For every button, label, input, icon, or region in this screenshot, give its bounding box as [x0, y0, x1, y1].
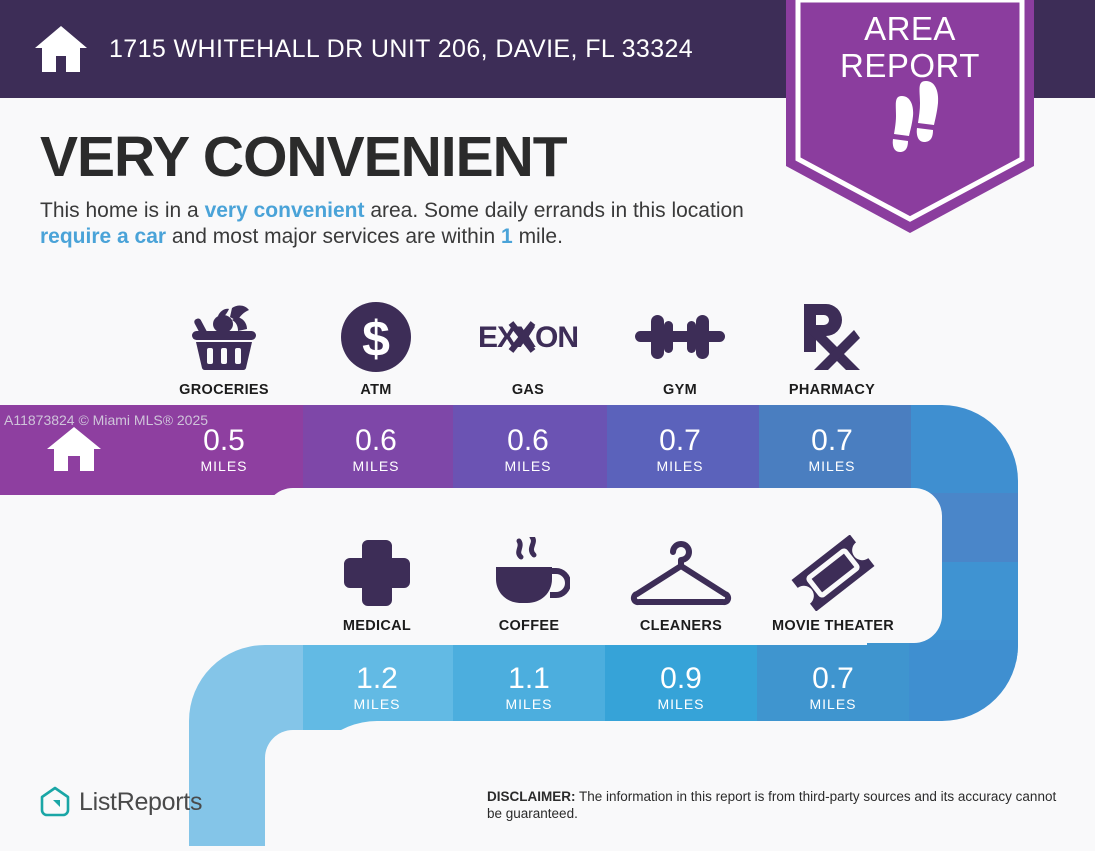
category-pharmacy: PHARMACY: [756, 288, 908, 398]
category-label: GYM: [663, 382, 697, 398]
distance-unit: MILES: [808, 458, 855, 474]
category-label: MOVIE THEATER: [772, 618, 894, 634]
distance-row-2: 1.2 MILES 1.1 MILES 0.9 MILES 0.7 MILES: [301, 643, 909, 731]
distance-unit: MILES: [656, 458, 703, 474]
distance-unit: MILES: [352, 458, 399, 474]
distance-value: 0.7: [811, 425, 853, 457]
disclaimer-label: DISCLAIMER:: [487, 789, 576, 804]
listreports-label: ListReports: [79, 788, 202, 817]
distance-cleaners: 0.9 MILES: [605, 643, 757, 731]
distance-movie-theater: 0.7 MILES: [757, 643, 909, 731]
distance-value: 1.2: [356, 663, 398, 695]
category-label: CLEANERS: [640, 618, 722, 634]
category-icon-row-1: GROCERIES $ ATM EXXON GAS: [148, 288, 908, 398]
distance-value: 0.9: [660, 663, 702, 695]
dumbbell-icon: [635, 298, 725, 376]
dollar-circle-icon: $: [339, 298, 413, 376]
category-label: COFFEE: [499, 618, 560, 634]
distance-medical: 1.2 MILES: [301, 643, 453, 731]
distance-unit: MILES: [504, 458, 551, 474]
category-atm: $ ATM: [300, 288, 452, 398]
area-report-badge: AREA REPORT: [786, 0, 1034, 233]
rx-icon: [798, 298, 866, 376]
ticket-icon: [790, 534, 876, 612]
distance-value: 0.6: [507, 425, 549, 457]
medical-cross-icon: [342, 534, 412, 612]
distance-value: 0.5: [203, 425, 245, 457]
distance-pharmacy: 0.7 MILES: [756, 405, 908, 493]
svg-text:$: $: [362, 311, 390, 367]
badge-line-2: REPORT: [786, 47, 1034, 84]
category-gas: EXXON GAS: [452, 288, 604, 398]
category-groceries: GROCERIES: [148, 288, 300, 398]
grocery-basket-icon: [185, 298, 263, 376]
mls-watermark: A11873824 © Miami MLS® 2025: [4, 412, 208, 428]
distance-coffee: 1.1 MILES: [453, 643, 605, 731]
category-icon-row-2: MEDICAL COFFEE CLEANERS: [301, 524, 909, 634]
distance-unit: MILES: [505, 696, 552, 712]
hanger-icon: [629, 534, 733, 612]
listreports-house-icon: [40, 786, 70, 818]
distance-value: 0.7: [659, 425, 701, 457]
listreports-logo: ListReports: [40, 786, 202, 818]
distance-unit: MILES: [657, 696, 704, 712]
distance-unit: MILES: [809, 696, 856, 712]
category-label: ATM: [360, 382, 391, 398]
category-label: GAS: [512, 382, 544, 398]
category-coffee: COFFEE: [453, 524, 605, 634]
category-gym: GYM: [604, 288, 756, 398]
category-label: MEDICAL: [343, 618, 411, 634]
home-icon: [45, 424, 103, 474]
distance-value: 0.6: [355, 425, 397, 457]
category-movie-theater: MOVIE THEATER: [757, 524, 909, 634]
badge-line-1: AREA: [786, 10, 1034, 47]
distance-value: 1.1: [508, 663, 550, 695]
category-medical: MEDICAL: [301, 524, 453, 634]
category-cleaners: CLEANERS: [605, 524, 757, 634]
distance-value: 0.7: [812, 663, 854, 695]
disclaimer: DISCLAIMER: The information in this repo…: [487, 788, 1062, 822]
distance-unit: MILES: [200, 458, 247, 474]
badge-label: AREA REPORT: [786, 10, 1034, 84]
distance-gas: 0.6 MILES: [452, 405, 604, 493]
distance-gym: 0.7 MILES: [604, 405, 756, 493]
distance-atm: 0.6 MILES: [300, 405, 452, 493]
coffee-cup-icon: [488, 534, 570, 612]
distance-unit: MILES: [353, 696, 400, 712]
category-label: PHARMACY: [789, 382, 875, 398]
category-label: GROCERIES: [179, 382, 269, 398]
exxon-logo-icon: EXXON: [478, 298, 578, 376]
